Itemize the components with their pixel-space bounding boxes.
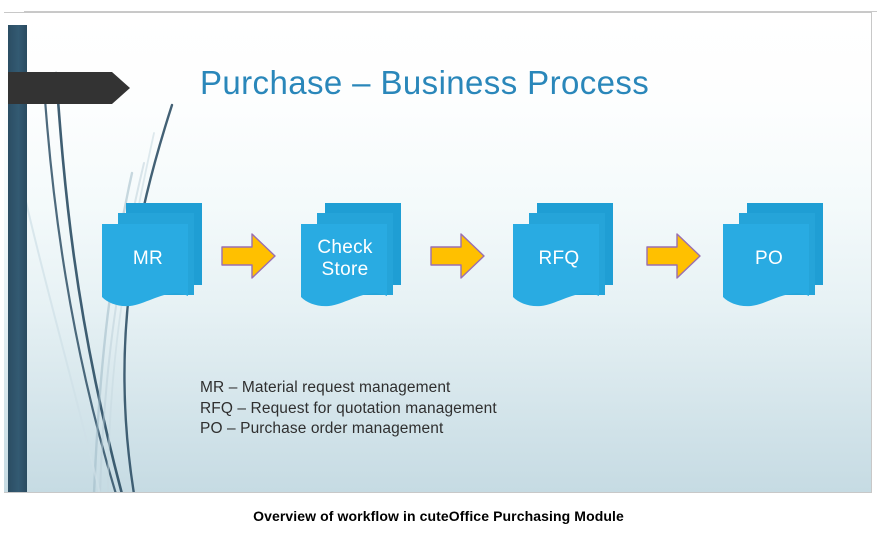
process-step-rfq[interactable]: RFQ [507,193,615,308]
legend-line-mr: MR – Material request management [200,378,497,399]
page-title: Purchase – Business Process [200,64,649,102]
page-root: Purchase – Business Process MR [0,0,877,537]
legend-block: MR – Material request management RFQ – R… [200,378,497,440]
presentation-slide: Purchase – Business Process MR [4,12,872,493]
process-flow-row: MR Check Store [4,193,872,323]
process-step-mr[interactable]: MR [96,193,204,308]
flow-arrow-icon [429,231,486,281]
banner-arrow-shape [8,72,130,104]
flow-arrow-icon [645,231,702,281]
process-step-check-store[interactable]: Check Store [295,193,403,308]
legend-line-rfq: RFQ – Request for quotation management [200,399,497,420]
process-step-po[interactable]: PO [717,193,825,308]
figure-caption: Overview of workflow in cuteOffice Purch… [0,508,877,524]
flow-arrow-icon [220,231,277,281]
legend-line-po: PO – Purchase order management [200,419,497,440]
